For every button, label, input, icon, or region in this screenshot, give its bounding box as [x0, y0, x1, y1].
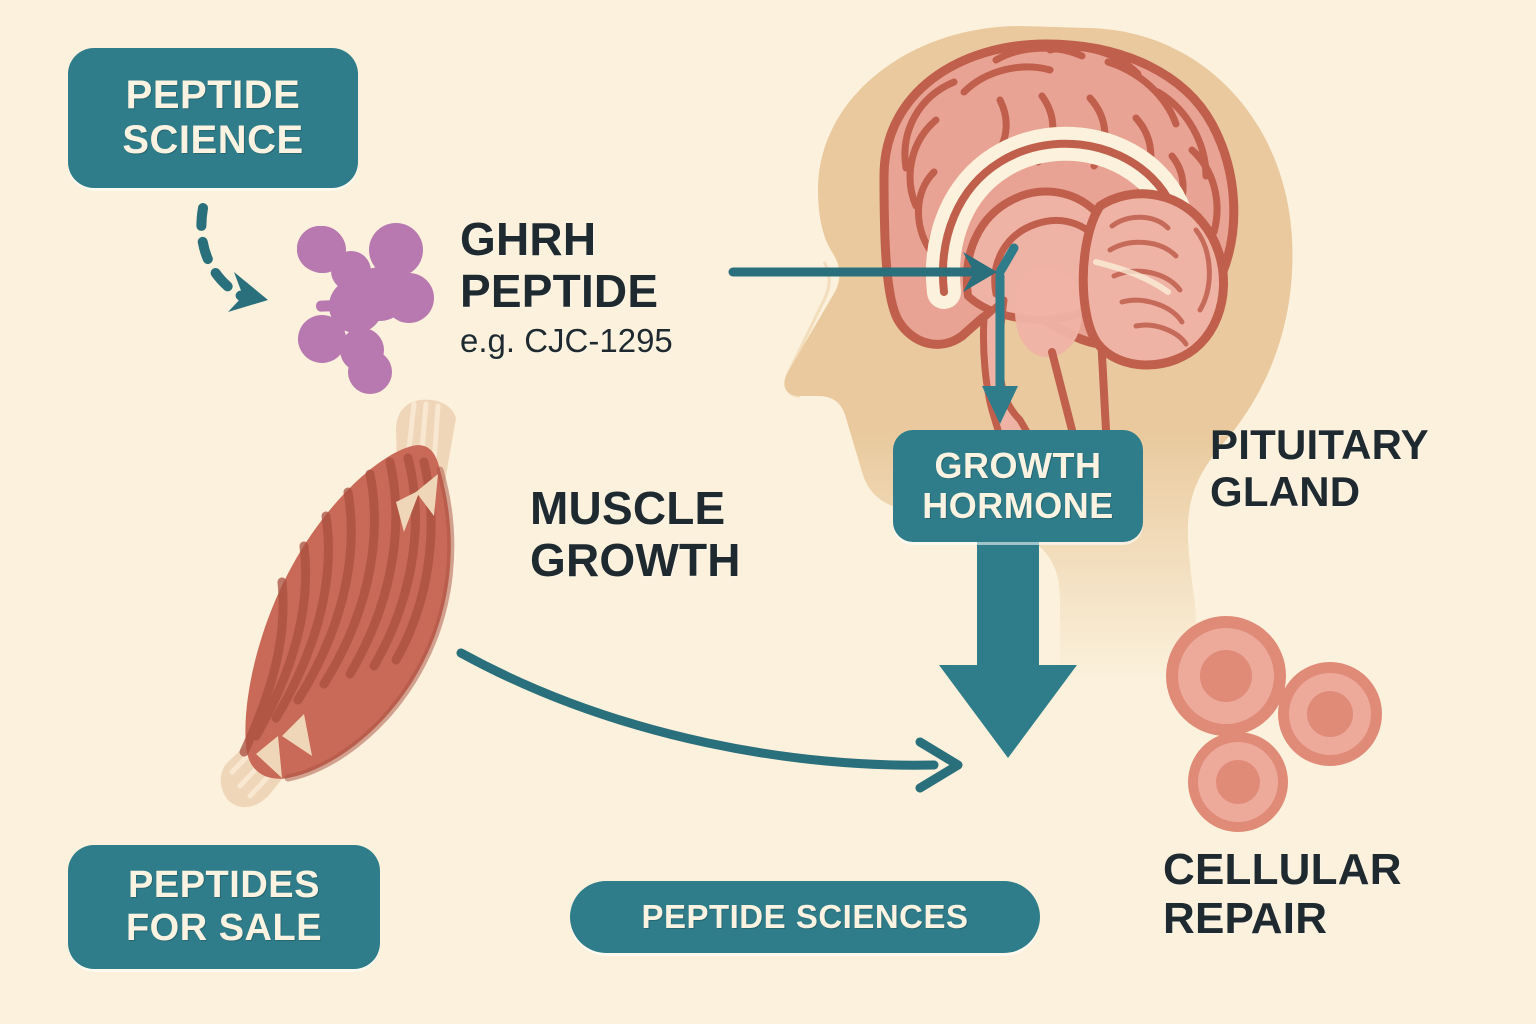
label-ghrh-title: GHRH PEPTIDE — [460, 213, 658, 317]
badge-peptide-science[interactable]: PEPTIDE SCIENCE — [68, 48, 358, 188]
badge-growth-hormone[interactable]: GROWTH HORMONE — [893, 430, 1143, 542]
dashed-curved-arrow-icon — [201, 208, 268, 312]
peptide-molecule-icon — [297, 223, 434, 394]
muscle-to-cells-arrow-icon — [461, 653, 958, 788]
label-ghrh-peptide: GHRH PEPTIDE e.g. CJC-1295 — [460, 214, 780, 360]
muscle-icon — [221, 400, 456, 807]
label-cellular-repair: CELLULAR REPAIR — [1163, 845, 1463, 944]
infographic-canvas: PEPTIDE SCIENCE GROWTH HORMONE PEPTIDES … — [0, 0, 1536, 1024]
cell-cluster-icon — [1166, 616, 1382, 832]
badge-peptide-sciences[interactable]: PEPTIDE SCIENCES — [570, 881, 1040, 953]
label-ghrh-example: e.g. CJC-1295 — [460, 323, 780, 360]
label-muscle-growth: MUSCLE GROWTH — [530, 483, 830, 586]
label-pituitary-gland: PITUITARY GLAND — [1210, 421, 1510, 515]
badge-peptides-for-sale[interactable]: PEPTIDES FOR SALE — [68, 845, 380, 969]
